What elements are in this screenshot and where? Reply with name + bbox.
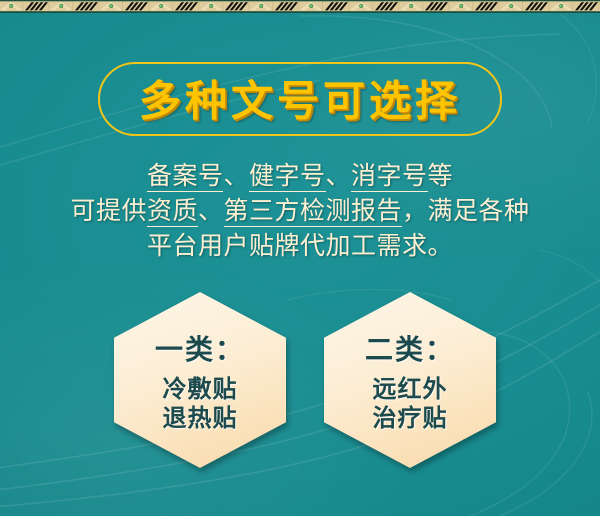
category-2-item-2: 治疗贴	[373, 403, 448, 432]
description-line-1: 备案号、健字号、消字号等	[28, 158, 572, 193]
description-line-2: 可提供资质、第三方检测报告，满足各种	[28, 193, 572, 228]
category-2-heading: 二类：	[365, 328, 455, 368]
description-paragraph: 备案号、健字号、消字号等 可提供资质、第三方检测报告，满足各种 平台用户贴牌代加…	[28, 158, 572, 263]
page-title: 多种文号可选择	[98, 67, 502, 128]
separator-2: 、	[326, 161, 352, 190]
description-line-2-head: 可提供	[70, 196, 147, 225]
category-hexagon-2[interactable]: 二类： 远红外 治疗贴	[324, 292, 496, 468]
description-line-1-tail: 等	[428, 161, 454, 190]
term-xiaozihao: 消字号	[351, 161, 428, 192]
promo-poster: 多种文号可选择 备案号、健字号、消字号等 可提供资质、第三方检测报告，满足各种 …	[0, 0, 600, 516]
description-line-2-tail: ，满足各种	[402, 196, 530, 225]
term-zizhi: 资质	[147, 196, 198, 227]
description-line-3: 平台用户贴牌代加工需求。	[28, 228, 572, 263]
category-2-item-1: 远红外	[373, 374, 448, 403]
category-hexagon-1[interactable]: 一类： 冷敷贴 退热贴	[114, 292, 286, 468]
term-third-party-report: 第三方检测报告	[224, 196, 403, 227]
border-pattern-icon	[0, 0, 600, 13]
category-hexagon-2-content: 二类： 远红外 治疗贴	[324, 292, 496, 468]
separator-3: 、	[198, 196, 224, 225]
category-1-item-2: 退热贴	[163, 403, 238, 432]
title-banner: 多种文号可选择	[98, 62, 502, 136]
category-1-item-1: 冷敷贴	[163, 374, 238, 403]
category-1-heading: 一类：	[155, 328, 245, 368]
ornamental-top-border	[0, 0, 600, 13]
category-hexagon-1-content: 一类： 冷敷贴 退热贴	[114, 292, 286, 468]
term-beianhao: 备案号	[147, 161, 224, 192]
separator-1: 、	[223, 161, 249, 190]
term-jianzihao: 健字号	[249, 161, 326, 192]
